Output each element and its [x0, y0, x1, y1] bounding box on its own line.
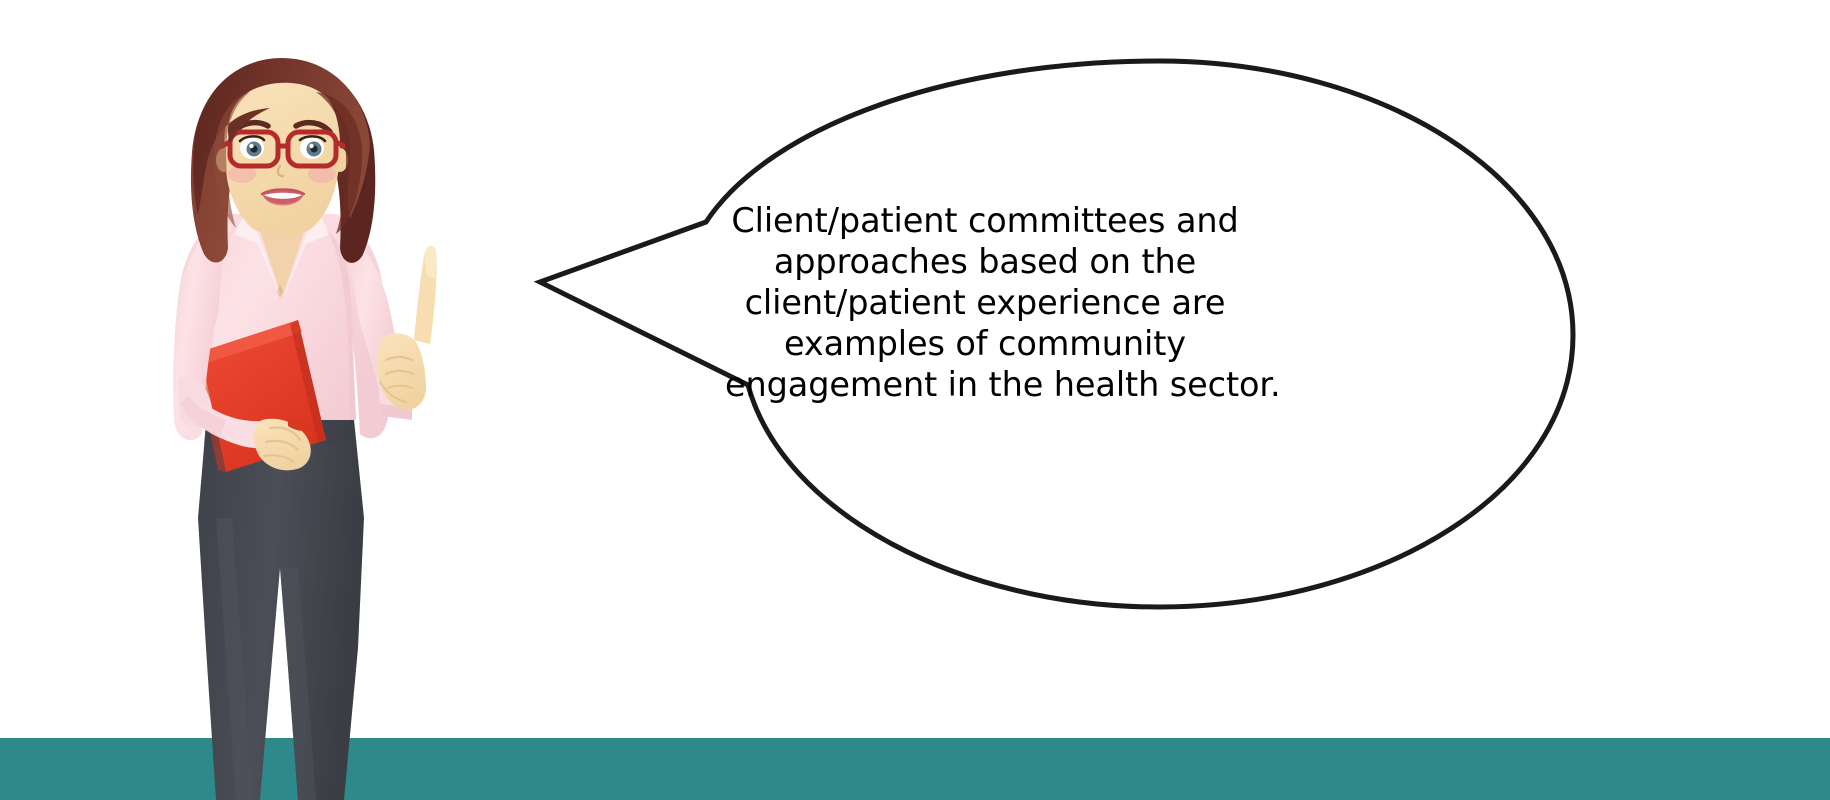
speech-bubble-text: Client/patient committees and approaches… [725, 200, 1245, 405]
slide-canvas: Client/patient committees and approaches… [0, 0, 1830, 800]
bubble-text-line-5: engagement in the health sector. [725, 364, 1245, 405]
bubble-text-line-4: examples of community [725, 323, 1245, 364]
presenter-character-illustration [130, 48, 460, 800]
bubble-text-line-2: approaches based on the [725, 241, 1245, 282]
bubble-text-line-3: client/patient experience are [725, 282, 1245, 323]
bubble-text-line-1: Client/patient committees and [725, 200, 1245, 241]
speech-bubble: Client/patient committees and approaches… [520, 45, 1600, 625]
